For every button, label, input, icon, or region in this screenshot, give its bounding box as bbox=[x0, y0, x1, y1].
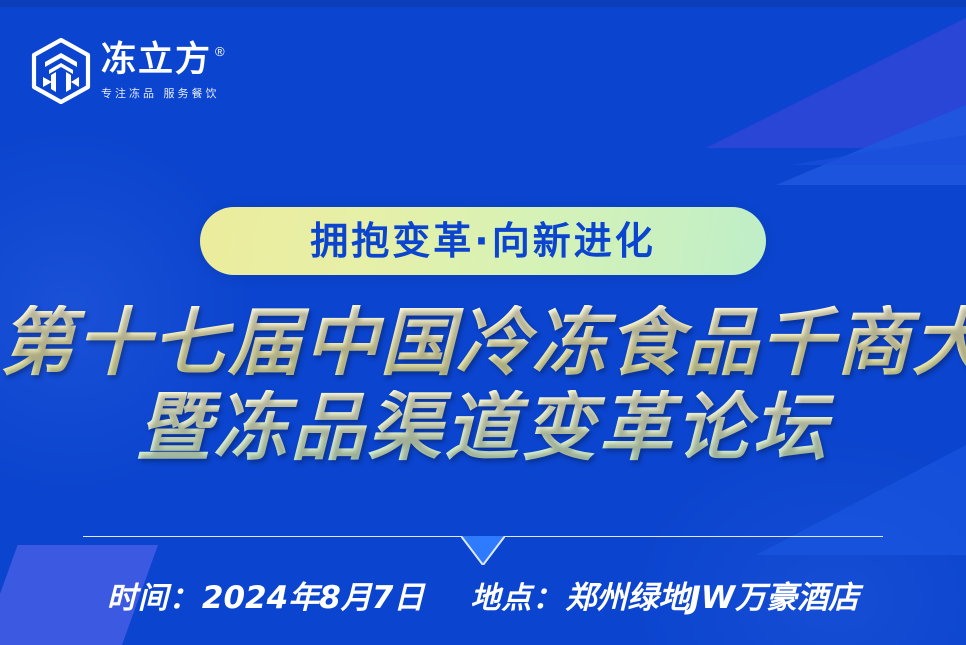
event-details: 时间： 2024年8月7日 地点： 郑州绿地JW万豪酒店 bbox=[0, 572, 966, 617]
event-place-value: 郑州绿地JW万豪酒店 bbox=[565, 572, 859, 617]
registered-trademark-icon: ® bbox=[215, 45, 225, 58]
event-place-label: 地点： bbox=[470, 573, 563, 617]
brand-name: 冻立方 bbox=[101, 43, 212, 78]
brand-tagline: 专注冻品 服务餐饮 bbox=[101, 85, 225, 101]
event-time: 时间： 2024年8月7日 bbox=[107, 572, 424, 617]
event-time-label: 时间： bbox=[107, 573, 200, 617]
right-upper-triangle-decoration bbox=[776, 105, 966, 185]
divider bbox=[0, 536, 966, 564]
event-place: 地点： 郑州绿地JW万豪酒店 bbox=[470, 572, 859, 617]
conference-poster: 冻立方 ® 专注冻品 服务餐饮 拥抱变革·向新进化 第十七届中国冷冻食品千商大会… bbox=[0, 0, 966, 645]
event-time-value: 2024年8月7日 bbox=[202, 572, 424, 617]
chevron-down-outline-icon bbox=[461, 536, 505, 565]
page-title: 第十七届中国冷冻食品千商大会 暨冻品渠道变革论坛 bbox=[0, 305, 966, 467]
title-line-1: 第十七届中国冷冻食品千商大会 bbox=[0, 305, 966, 382]
brand-wordmark: 冻立方 ® 专注冻品 服务餐饮 bbox=[101, 41, 225, 101]
top-right-purple-triangle-decoration bbox=[706, 18, 966, 148]
slogan-text: 拥抱变革·向新进化 bbox=[310, 222, 655, 260]
slogan-banner: 拥抱变革·向新进化 bbox=[200, 207, 766, 275]
top-accent-strip bbox=[0, 0, 966, 7]
brand-lockup: 冻立方 ® 专注冻品 服务餐饮 bbox=[30, 38, 225, 104]
title-line-2: 暨冻品渠道变革论坛 bbox=[0, 390, 966, 467]
hexagon-cube-logo-icon bbox=[30, 38, 92, 104]
right-lower-triangle-decoration bbox=[791, 135, 966, 165]
